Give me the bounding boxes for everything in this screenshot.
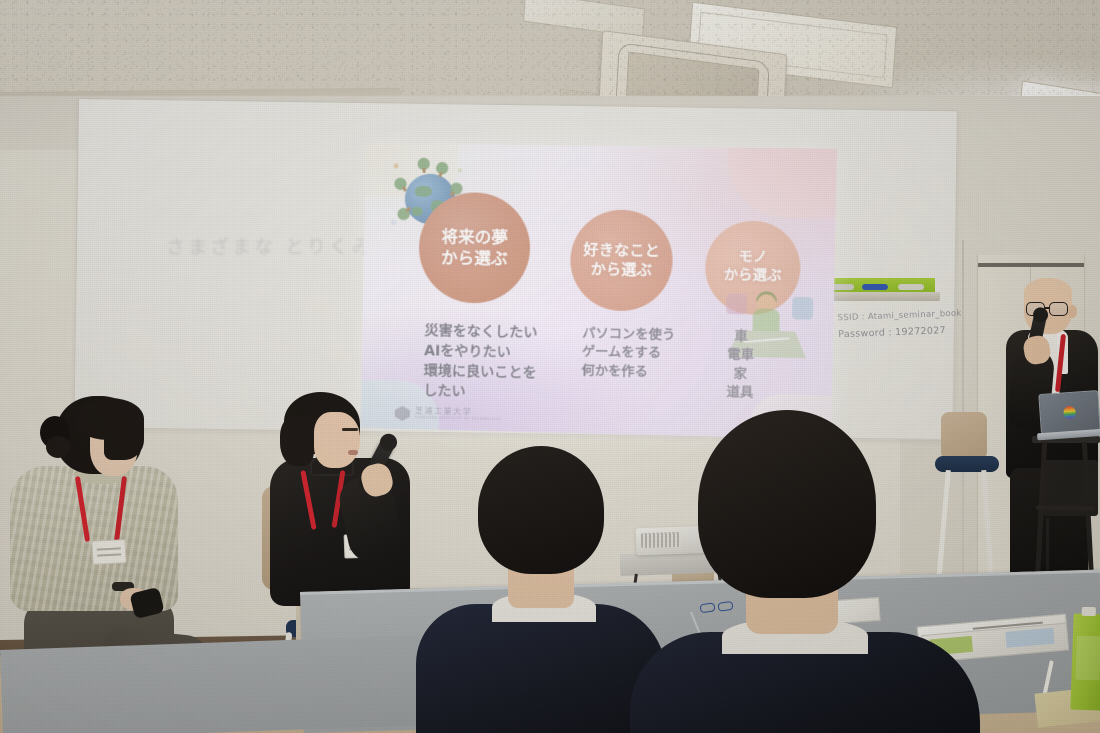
circle-line-1: 将来の夢: [441, 226, 508, 248]
name-badge: [91, 539, 126, 565]
whiteboard-wifi-note: SSID : Atami_seminar_book Password : 192…: [837, 306, 958, 345]
slide-column-objects: 車 電車 家 道具: [726, 328, 754, 404]
audience-member-left: [430, 446, 650, 733]
conference-table-left: [0, 635, 423, 733]
marker-gray[interactable]: [898, 284, 924, 290]
classroom-scene: さまざまな とりくみ SSID : Atami_seminar_book Pas…: [0, 0, 1100, 733]
circle-line-2: から選ぶ: [441, 247, 508, 269]
bullet-item: 何かを作る: [581, 363, 674, 384]
bullet-item: 電車: [727, 347, 754, 366]
slide-circle-future-dream: 将来の夢 から選ぶ: [418, 192, 531, 304]
bullet-item: 災害をなくしたい: [424, 322, 537, 344]
circle-line-2: から選ぶ: [590, 260, 652, 280]
slide-circle-things-you-like: 好きなこと から選ぶ: [569, 209, 673, 312]
slide-column-things-you-like: パソコンを使う ゲームをする 何かを作る: [581, 325, 675, 383]
bullet-item: ゲームをする: [582, 344, 675, 365]
bullet-item: 道具: [726, 384, 753, 403]
bullet-item: 家: [727, 366, 754, 385]
bullet-item: パソコンを使う: [582, 325, 675, 346]
circle-line-1: モノ: [738, 249, 767, 268]
bullet-item: 環境に良いことを: [424, 362, 537, 384]
circle-line-1: 好きなこと: [583, 240, 660, 261]
laptop[interactable]: [1038, 390, 1100, 446]
drink-carton[interactable]: [1070, 613, 1100, 710]
marker-blue[interactable]: [862, 284, 888, 290]
bullet-item: AIをやりたい: [424, 342, 537, 364]
bullet-item: 車: [727, 328, 754, 347]
ceiling-light-panel: [523, 0, 645, 38]
carton-cap-icon: [1082, 607, 1096, 616]
audience-member-right: [660, 410, 940, 733]
ceiling-light-panel: [688, 2, 897, 89]
